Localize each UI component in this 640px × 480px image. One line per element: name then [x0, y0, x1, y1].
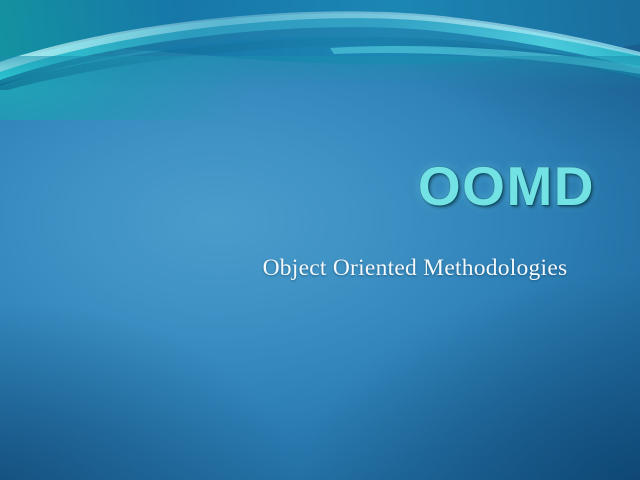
wave-ribbon-decoration	[0, 0, 640, 90]
slide-title: OOMD	[418, 158, 595, 216]
title-container: OOMD	[0, 158, 595, 216]
subtitle-container: Object Oriented Methodologies	[182, 254, 640, 282]
slide-subtitle: Object Oriented Methodologies	[182, 254, 640, 282]
presentation-slide: OOMD Object Oriented Methodologies	[0, 0, 640, 480]
